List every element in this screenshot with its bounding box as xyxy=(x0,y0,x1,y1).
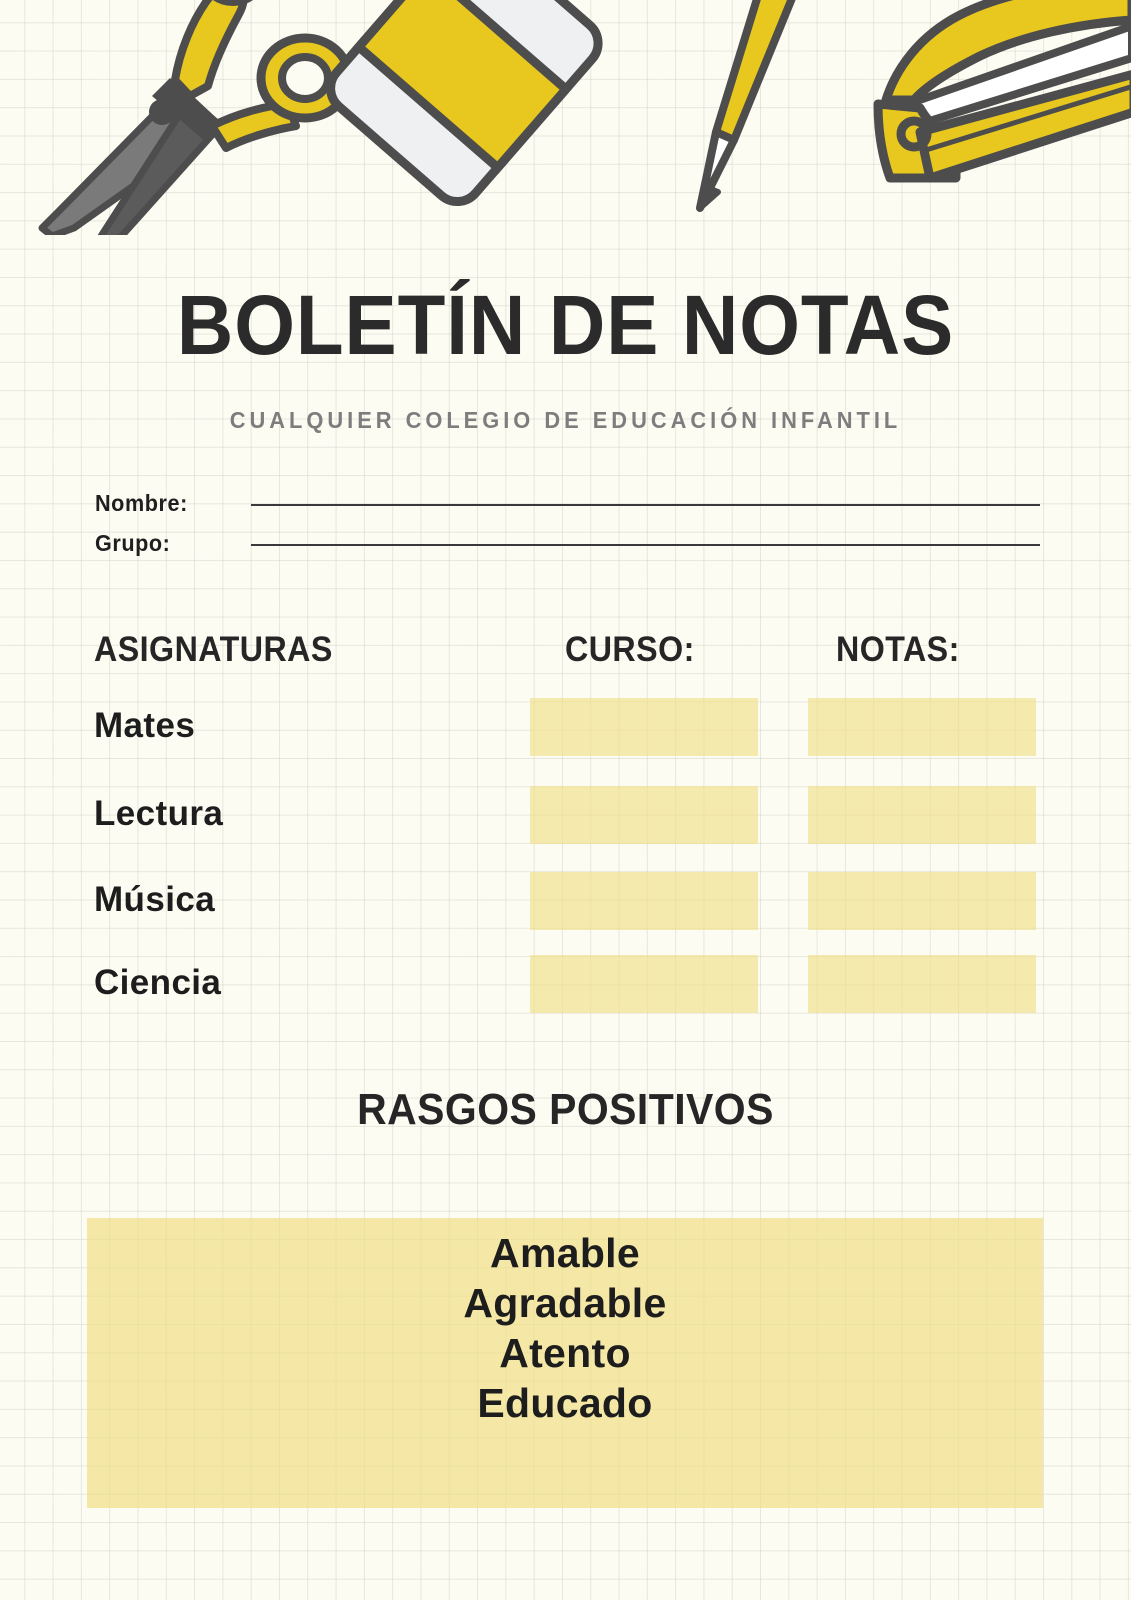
grades-table-header-row: ASIGNATURAS CURSO: NOTAS: xyxy=(0,630,1131,676)
page-title: BOLETÍN DE NOTAS xyxy=(40,277,1092,373)
table-row: Ciencia xyxy=(0,955,1131,1015)
course-input-cell[interactable] xyxy=(530,786,758,844)
column-header-subjects: ASIGNATURAS xyxy=(94,630,333,670)
mark-input-cell[interactable] xyxy=(808,955,1036,1013)
field-nombre[interactable]: Nombre: xyxy=(95,490,1040,517)
page-subtitle: CUALQUIER COLEGIO DE EDUCACIÓN INFANTIL xyxy=(28,407,1102,434)
positive-traits-list: Amable Agradable Atento Educado xyxy=(87,1228,1043,1428)
subject-label: Lectura xyxy=(94,794,223,834)
mark-input-cell[interactable] xyxy=(808,698,1036,756)
mark-input-cell[interactable] xyxy=(808,872,1036,930)
field-grupo-label: Grupo: xyxy=(95,530,236,557)
field-nombre-input[interactable] xyxy=(251,504,1040,506)
trait-item: Amable xyxy=(87,1228,1043,1278)
eraser-icon xyxy=(321,0,608,211)
subject-label: Música xyxy=(94,880,215,920)
report-card-page: BOLETÍN DE NOTAS CUALQUIER COLEGIO DE ED… xyxy=(0,0,1131,1600)
scissors-icon xyxy=(42,0,349,235)
column-header-marks: NOTAS: xyxy=(836,630,960,670)
school-supplies-illustration xyxy=(0,0,1131,235)
stapler-icon xyxy=(878,0,1131,178)
course-input-cell[interactable] xyxy=(530,872,758,930)
course-input-cell[interactable] xyxy=(530,698,758,756)
trait-item: Educado xyxy=(87,1378,1043,1428)
field-nombre-label: Nombre: xyxy=(95,490,236,517)
subject-label: Ciencia xyxy=(94,963,221,1003)
subject-label: Mates xyxy=(94,706,195,746)
positive-traits-heading: RASGOS POSITIVOS xyxy=(40,1085,1092,1135)
trait-item: Atento xyxy=(87,1328,1043,1378)
course-input-cell[interactable] xyxy=(530,955,758,1013)
trait-item: Agradable xyxy=(87,1278,1043,1328)
table-row: Mates xyxy=(0,698,1131,758)
mark-input-cell[interactable] xyxy=(808,786,1036,844)
pencil-icon xyxy=(700,0,806,208)
column-header-course: CURSO: xyxy=(565,630,695,670)
table-row: Música xyxy=(0,872,1131,932)
field-grupo[interactable]: Grupo: xyxy=(95,530,1040,557)
table-row: Lectura xyxy=(0,786,1131,846)
field-grupo-input[interactable] xyxy=(251,544,1040,546)
